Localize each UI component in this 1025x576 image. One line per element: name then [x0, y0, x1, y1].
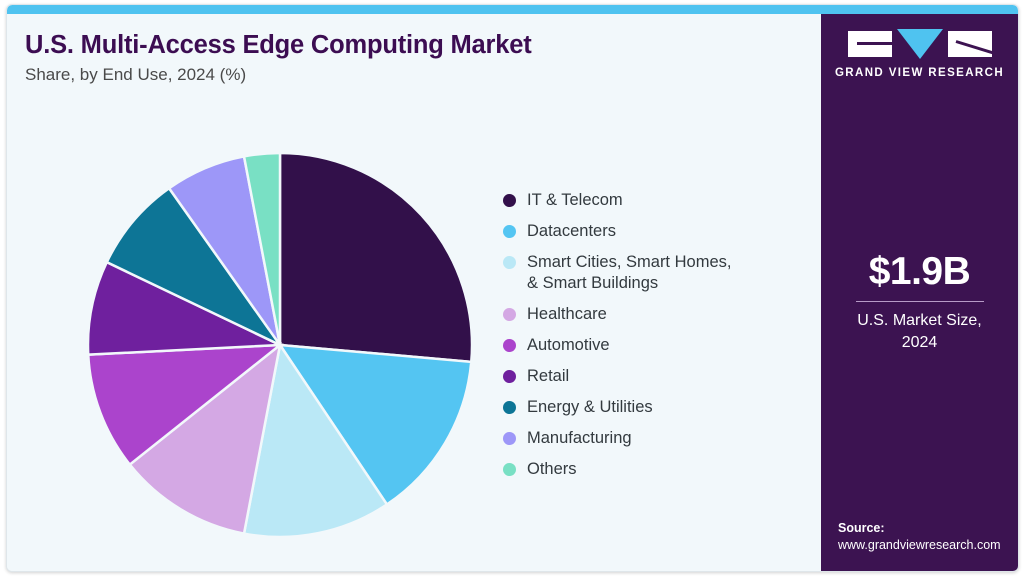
pie-chart-svg	[85, 150, 475, 540]
chart-main-area: U.S. Multi-Access Edge Computing Market …	[7, 14, 823, 572]
gvr-v-triangle-icon	[897, 29, 943, 59]
legend-swatch-icon	[503, 401, 516, 414]
legend-swatch-icon	[503, 194, 516, 207]
legend-item[interactable]: Automotive	[503, 335, 803, 356]
legend-swatch-icon	[503, 463, 516, 476]
legend-swatch-icon	[503, 308, 516, 321]
legend-item[interactable]: Manufacturing	[503, 428, 803, 449]
legend-item[interactable]: IT & Telecom	[503, 190, 803, 211]
legend-item[interactable]: Others	[503, 459, 803, 480]
chart-legend: IT & TelecomDatacentersSmart Cities, Sma…	[503, 190, 803, 490]
legend-swatch-icon	[503, 225, 516, 238]
legend-label: Others	[527, 459, 577, 480]
gvr-g-block-icon	[848, 31, 892, 57]
legend-item[interactable]: Healthcare	[503, 304, 803, 325]
legend-label: Datacenters	[527, 221, 616, 242]
source-footer: Source: www.grandviewresearch.com	[838, 520, 1018, 554]
legend-item[interactable]: Retail	[503, 366, 803, 387]
legend-swatch-icon	[503, 432, 516, 445]
top-accent-bar	[7, 5, 1018, 14]
market-size-value: $1.9B	[821, 250, 1018, 294]
legend-label: Energy & Utilities	[527, 397, 653, 418]
source-url: www.grandviewresearch.com	[838, 537, 1018, 554]
logo-marks	[821, 30, 1018, 58]
market-size-caption: U.S. Market Size, 2024	[821, 310, 1018, 354]
brand-side-panel: GRAND VIEW RESEARCH $1.9B U.S. Market Si…	[821, 14, 1018, 572]
legend-item[interactable]: Smart Cities, Smart Homes, & Smart Build…	[503, 252, 803, 294]
stat-divider	[856, 301, 984, 302]
legend-label: Manufacturing	[527, 428, 632, 449]
legend-swatch-icon	[503, 370, 516, 383]
chart-canvas: U.S. Multi-Access Edge Computing Market …	[0, 0, 1025, 576]
gvr-r-block-icon	[948, 31, 992, 57]
brand-logo: GRAND VIEW RESEARCH	[821, 30, 1018, 79]
page-subtitle: Share, by End Use, 2024 (%)	[25, 65, 246, 85]
market-size-stat: $1.9B U.S. Market Size, 2024	[821, 250, 1018, 354]
pie-chart	[85, 150, 475, 540]
legend-swatch-icon	[503, 339, 516, 352]
legend-item[interactable]: Energy & Utilities	[503, 397, 803, 418]
legend-label: Smart Cities, Smart Homes, & Smart Build…	[527, 252, 731, 294]
source-label: Source:	[838, 520, 1018, 537]
legend-label: IT & Telecom	[527, 190, 623, 211]
pie-slice[interactable]	[280, 153, 472, 362]
page-title: U.S. Multi-Access Edge Computing Market	[25, 31, 532, 60]
legend-label: Retail	[527, 366, 569, 387]
legend-item[interactable]: Datacenters	[503, 221, 803, 242]
infographic-card: U.S. Multi-Access Edge Computing Market …	[6, 4, 1019, 572]
logo-wordmark: GRAND VIEW RESEARCH	[821, 67, 1018, 79]
legend-swatch-icon	[503, 256, 516, 269]
legend-label: Automotive	[527, 335, 610, 356]
legend-label: Healthcare	[527, 304, 607, 325]
